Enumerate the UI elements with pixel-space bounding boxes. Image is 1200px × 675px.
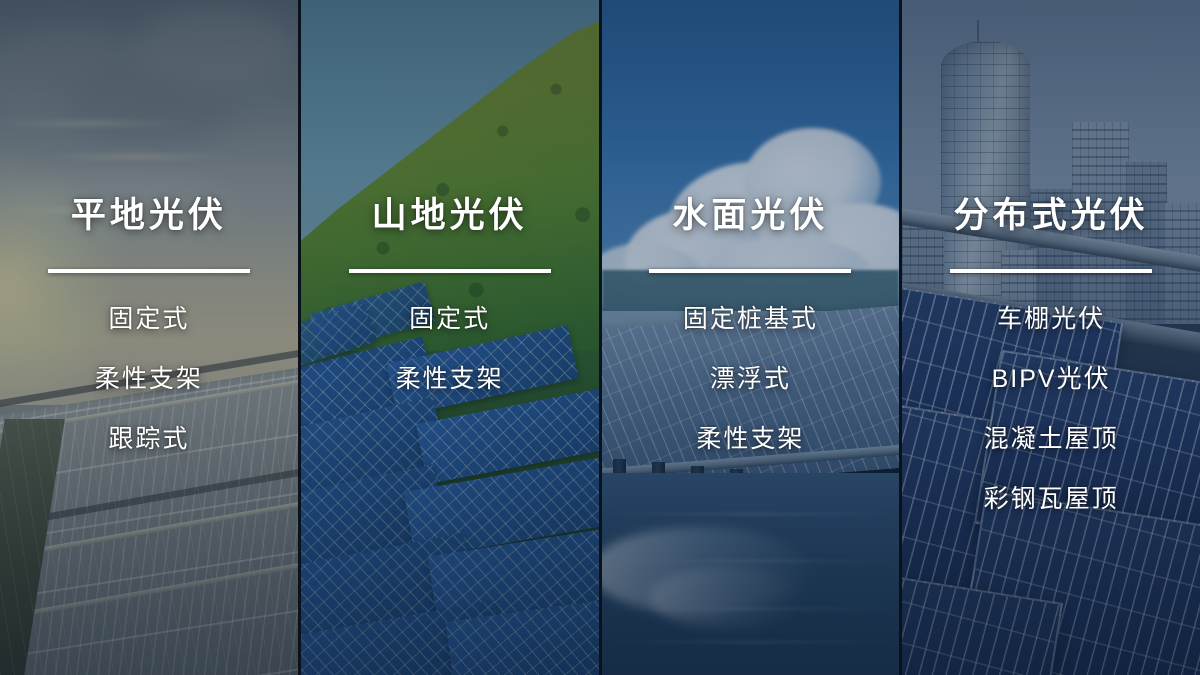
list-item[interactable]: 彩钢瓦屋顶 <box>984 487 1119 512</box>
pv-scenario-board: 平地光伏 固定式 柔性支架 跟踪式 <box>0 0 1200 675</box>
list-item[interactable]: BIPV光伏 <box>992 367 1111 392</box>
panel-title: 水面光伏 <box>672 196 828 236</box>
list-item[interactable]: 混凝土屋顶 <box>984 427 1119 452</box>
title-divider <box>649 269 851 273</box>
title-divider <box>950 269 1152 273</box>
list-item[interactable]: 固定式 <box>409 307 490 332</box>
title-divider <box>349 269 551 273</box>
panel-item-list: 固定式 柔性支架 跟踪式 <box>95 307 203 452</box>
panel-water-surface-pv[interactable]: 水面光伏 固定桩基式 漂浮式 柔性支架 <box>602 0 900 675</box>
list-item[interactable]: 柔性支架 <box>95 367 203 392</box>
list-item[interactable]: 柔性支架 <box>396 367 504 392</box>
panel-title: 平地光伏 <box>71 196 227 236</box>
list-item[interactable]: 车棚光伏 <box>997 307 1105 332</box>
title-divider <box>48 269 250 273</box>
list-item[interactable]: 柔性支架 <box>696 427 804 452</box>
list-item[interactable]: 跟踪式 <box>108 427 189 452</box>
panel-flat-ground-pv[interactable]: 平地光伏 固定式 柔性支架 跟踪式 <box>0 0 298 675</box>
panel-title: 分布式光伏 <box>954 196 1149 236</box>
panel-item-list: 车棚光伏 BIPV光伏 混凝土屋顶 彩钢瓦屋顶 <box>984 307 1119 512</box>
list-item[interactable]: 固定桩基式 <box>683 307 818 332</box>
panel-mountain-pv[interactable]: 山地光伏 固定式 柔性支架 <box>301 0 599 675</box>
list-item[interactable]: 漂浮式 <box>710 367 791 392</box>
panel-title: 山地光伏 <box>372 196 528 236</box>
panel-distributed-pv[interactable]: 分布式光伏 车棚光伏 BIPV光伏 混凝土屋顶 彩钢瓦屋顶 <box>902 0 1200 675</box>
panel-item-list: 固定桩基式 漂浮式 柔性支架 <box>683 307 818 452</box>
panel-item-list: 固定式 柔性支架 <box>396 307 504 392</box>
list-item[interactable]: 固定式 <box>108 307 189 332</box>
